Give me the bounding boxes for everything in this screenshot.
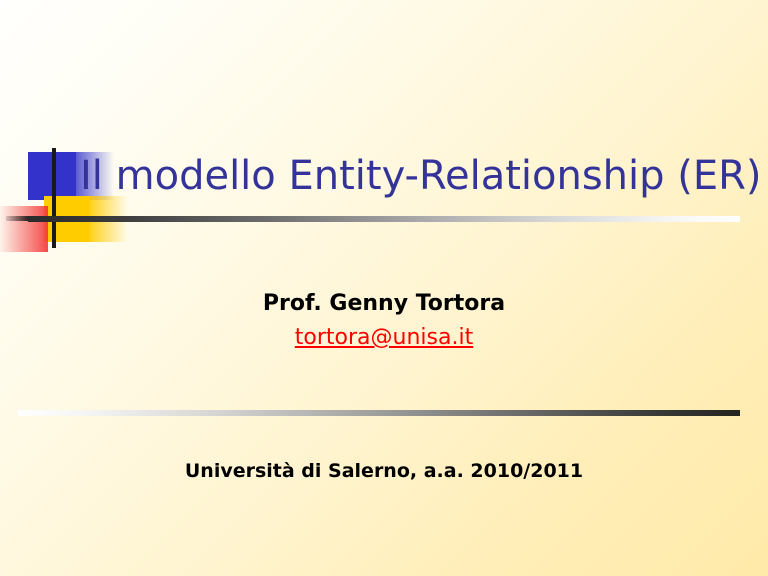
institution-and-year: Università di Salerno, a.a. 2010/2011	[185, 458, 583, 484]
slide-canvas: Il modello Entity-Relationship (ER) Prof…	[0, 0, 768, 576]
presenter-name: Prof. Genny Tortora	[0, 288, 768, 320]
slide-title: Il modello Entity-Relationship (ER)	[80, 152, 752, 200]
footer-separator-rule	[18, 410, 740, 416]
slide-subtitle: Prof. Genny Tortora tortora@unisa.it	[0, 288, 768, 353]
red-square-icon	[0, 206, 48, 252]
presenter-email-link[interactable]: tortora@unisa.it	[295, 323, 473, 353]
vertical-black-rule-icon	[52, 148, 56, 248]
title-underline-rule	[28, 216, 740, 222]
slide-footer: Università di Salerno, a.a. 2010/2011	[0, 458, 768, 484]
